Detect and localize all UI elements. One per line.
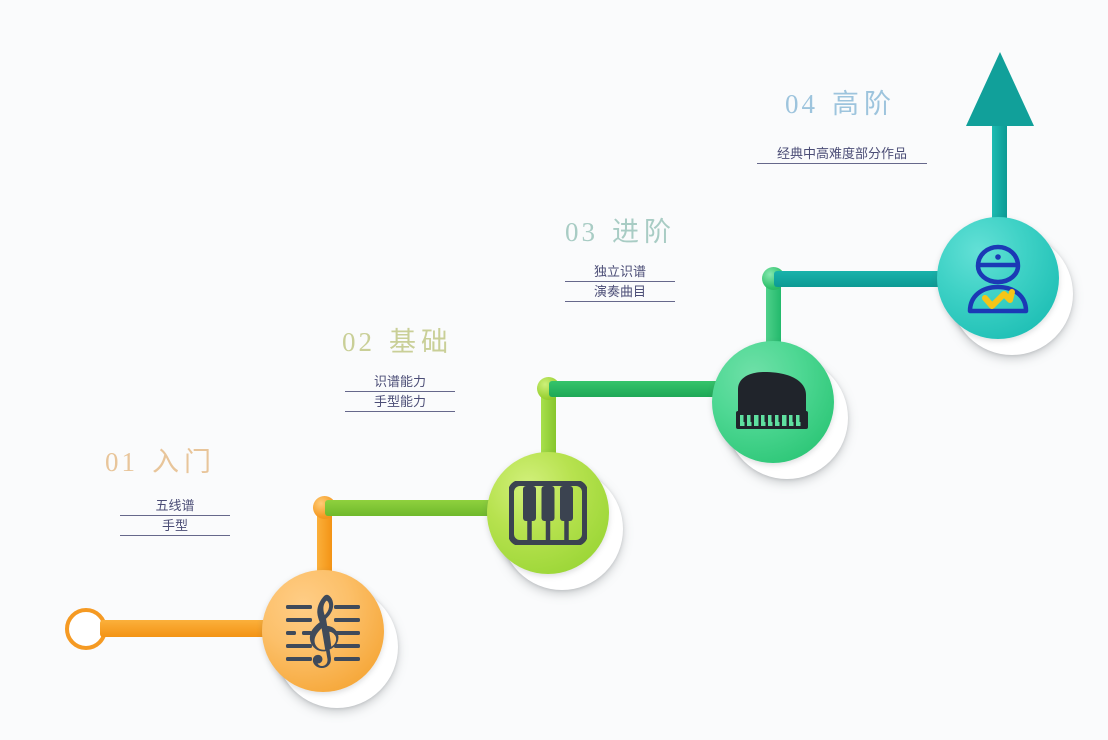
step-name-4: 高阶 [832,89,896,119]
step-desc-line: 演奏曲目 [565,283,675,303]
step-desc-line: 经典中高难度部分作品 [757,145,927,165]
step-title-4: 04高阶 [785,82,896,121]
step-desc-3: 独立识谱 演奏曲目 [565,263,675,303]
grand-piano-icon [732,369,814,435]
step-number-3: 03 [565,217,598,247]
step-number-1: 01 [105,447,138,477]
step-name-2: 基础 [389,327,453,357]
graduate-person-icon [960,241,1036,315]
step-number-2: 02 [342,327,375,357]
step-node-disc-2[interactable] [487,452,609,574]
step-desc-line: 独立识谱 [565,263,675,283]
step-title-3: 03进阶 [565,210,676,249]
step-desc-line: 手型能力 [345,393,455,413]
infographic-canvas: 01入门 五线谱 手型 02基础 识谱能力 手型能力 03进阶 独立识谱 演奏曲… [0,0,1108,740]
step-title-2: 02基础 [342,320,453,359]
step-node-disc-4[interactable] [937,217,1059,339]
step-node-disc-1[interactable] [262,570,384,692]
step-desc-line: 识谱能力 [345,373,455,393]
step-desc-1: 五线谱 手型 [120,497,230,537]
step-desc-4: 经典中高难度部分作品 [757,145,927,165]
treble-clef-icon [280,591,366,671]
step-name-3: 进阶 [612,217,676,247]
step-name-1: 入门 [152,447,216,477]
piano-keys-icon [509,481,587,545]
step-desc-line: 五线谱 [120,497,230,517]
step-desc-2: 识谱能力 手型能力 [345,373,455,413]
up-arrow-icon [958,48,1042,138]
step-title-1: 01入门 [105,440,216,479]
step-node-disc-3[interactable] [712,341,834,463]
step-number-4: 04 [785,89,818,119]
step-desc-line: 手型 [120,517,230,537]
